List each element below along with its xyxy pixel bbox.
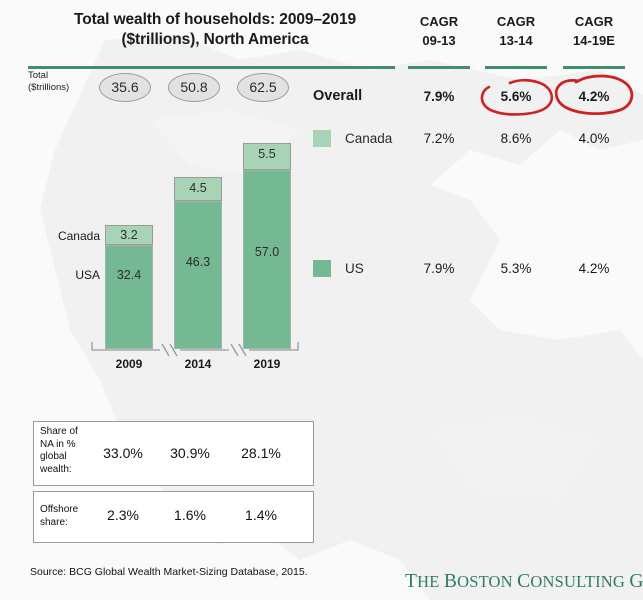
us-cagr-14-19e: 4.2%: [556, 261, 632, 276]
stacked-bar-chart: Canada USA 3.2 32.4 4.5 46.3 5.5 57.0 20…: [0, 0, 340, 400]
offshore-label-line-1: share:: [40, 517, 78, 530]
logo-rest-2: ONSULTING: [530, 572, 625, 591]
bar-value-usa-2009: 32.4: [105, 268, 153, 282]
slide-canvas: Total wealth of households: 2009–2019 ($…: [0, 0, 643, 600]
x-axis-tick-2019: 2019: [239, 357, 295, 371]
logo-rest-0: HE: [417, 572, 439, 591]
cagr-header-label-0: CAGR: [401, 12, 477, 31]
overall-cagr-09-13: 7.9%: [401, 89, 477, 104]
offshore-share-2019: 1.4%: [231, 507, 291, 523]
bcg-logo: THE BOSTON CONSULTING GROUP: [405, 571, 643, 593]
cagr-header-0: CAGR 09-13: [401, 12, 477, 50]
share-of-na-2014: 30.9%: [160, 445, 220, 461]
us-cagr-09-13: 7.9%: [401, 261, 477, 276]
info-label-offshore-share: Offshore share:: [40, 504, 78, 529]
source-note: Source: BCG Global Wealth Market-Sizing …: [30, 566, 308, 578]
canada-cagr-13-14: 8.6%: [478, 131, 554, 146]
cagr-header-2: CAGR 14-19E: [556, 12, 632, 50]
info-label-share-of-na: Share of NA in % global wealth:: [40, 426, 78, 476]
overall-cagr-14-19e: 4.2%: [556, 89, 632, 104]
cagr-header-period-2: 14-19E: [556, 31, 632, 50]
cagr-header-label-1: CAGR: [478, 12, 554, 31]
info-label-line-3: wealth:: [40, 464, 78, 477]
series-axis-label-usa: USA: [55, 268, 100, 282]
logo-rest-1: OSTON: [457, 572, 513, 591]
bar-value-canada-2014: 4.5: [174, 181, 222, 195]
x-axis-tick-2009: 2009: [101, 357, 157, 371]
cagr-header-label-2: CAGR: [556, 12, 632, 31]
bar-segment-usa-2014: [174, 201, 222, 349]
us-cagr-13-14: 5.3%: [478, 261, 554, 276]
logo-cap-1: B: [444, 571, 457, 592]
x-axis-tick-2014: 2014: [170, 357, 226, 371]
header-rule-cagr-1: [485, 66, 547, 69]
bar-value-usa-2014: 46.3: [174, 255, 222, 269]
logo-cap-2: C: [517, 571, 530, 592]
canada-cagr-09-13: 7.2%: [401, 131, 477, 146]
share-of-na-2019: 28.1%: [231, 445, 291, 461]
legend-label-us: US: [345, 261, 364, 276]
series-axis-label-canada: Canada: [55, 229, 100, 243]
bar-value-canada-2009: 3.2: [105, 228, 153, 242]
offshore-share-2014: 1.6%: [160, 507, 220, 523]
bar-value-usa-2019: 57.0: [243, 245, 291, 259]
logo-cap-3: G: [629, 571, 643, 592]
logo-cap-0: T: [405, 571, 417, 592]
bar-segment-usa-2019: [243, 170, 291, 349]
canada-cagr-14-19e: 4.0%: [556, 131, 632, 146]
cagr-header-period-0: 09-13: [401, 31, 477, 50]
bar-segment-usa-2009: [105, 245, 153, 349]
cagr-header-period-1: 13-14: [478, 31, 554, 50]
bar-value-canada-2019: 5.5: [243, 147, 291, 161]
overall-cagr-13-14: 5.6%: [478, 89, 554, 104]
cagr-header-1: CAGR 13-14: [478, 12, 554, 50]
offshore-share-2009: 2.3%: [93, 507, 153, 523]
info-label-line-0: Share of: [40, 426, 78, 439]
offshore-label-line-0: Offshore: [40, 504, 78, 517]
header-rule-cagr-2: [563, 66, 625, 69]
info-label-line-2: global: [40, 451, 78, 464]
header-rule-cagr-0: [408, 66, 470, 69]
legend-label-canada: Canada: [345, 131, 392, 146]
info-label-line-1: NA in %: [40, 439, 78, 452]
share-of-na-2009: 33.0%: [93, 445, 153, 461]
